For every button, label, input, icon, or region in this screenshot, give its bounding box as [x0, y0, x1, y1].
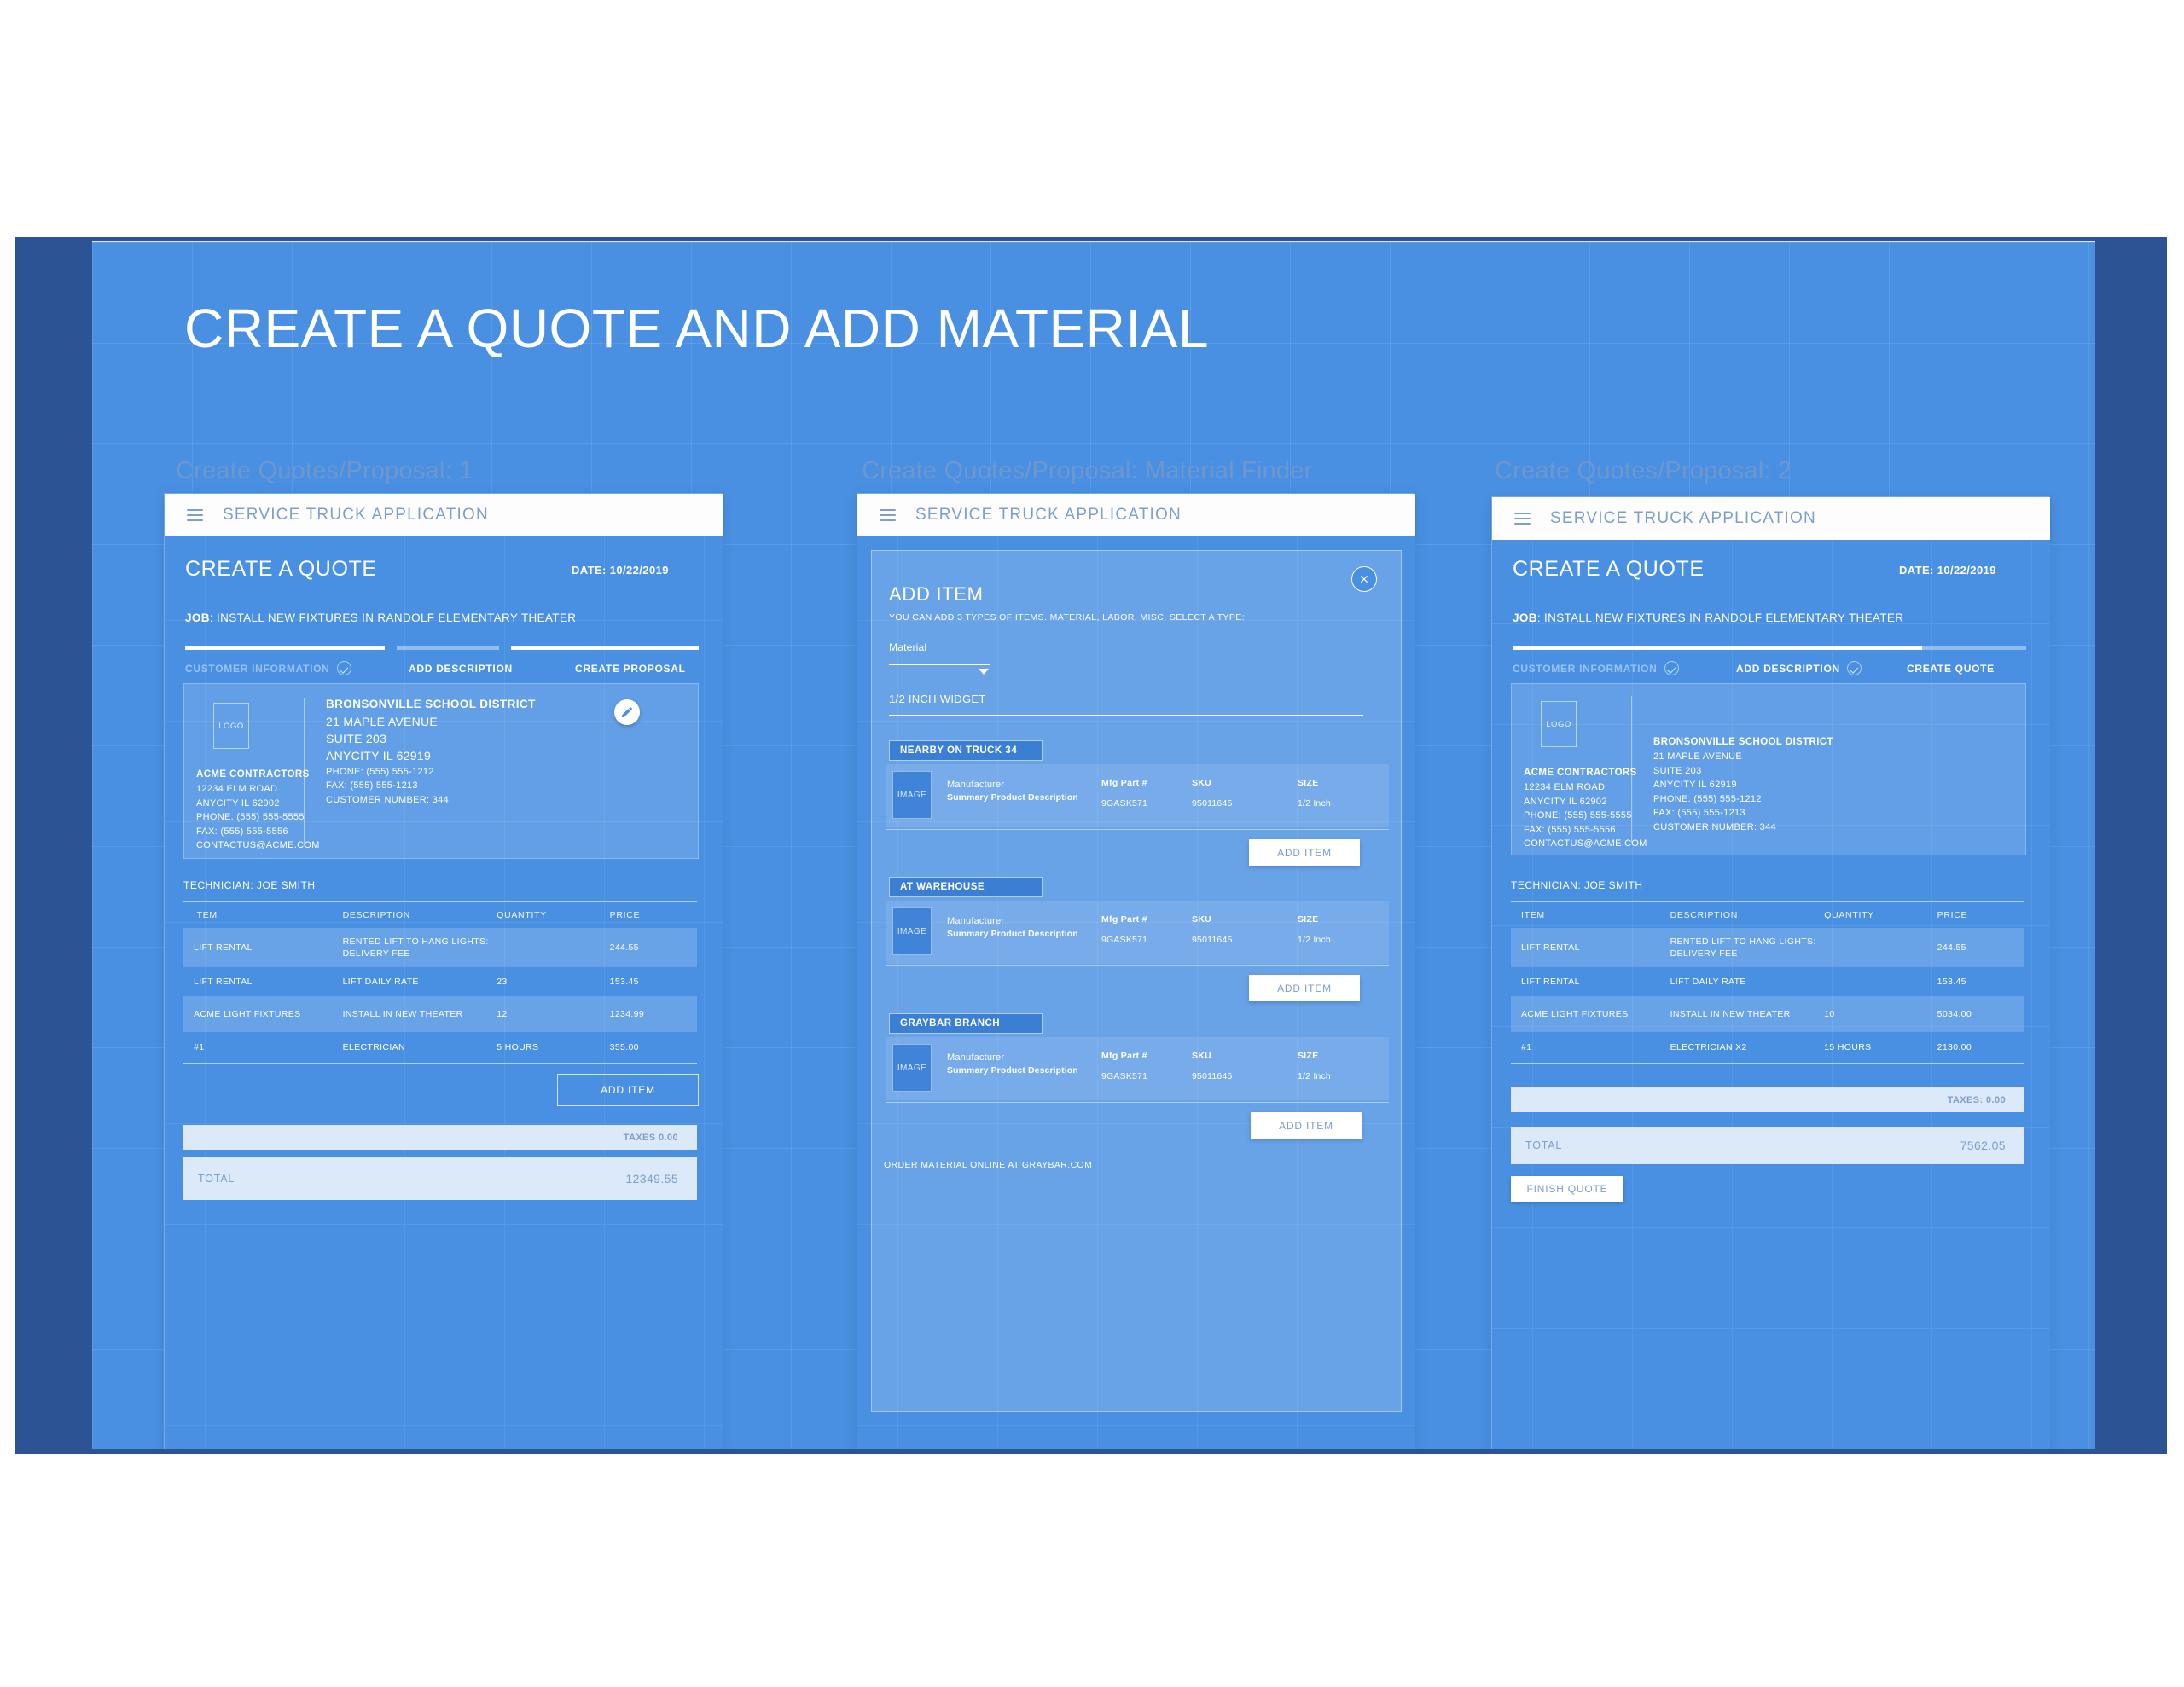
cell-desc: ELECTRICIAN — [343, 1041, 497, 1053]
result-location-tag: NEARBY ON TRUCK 34 — [889, 740, 1043, 761]
appbar-title: SERVICE TRUCK APPLICATION — [1550, 509, 1816, 528]
product-manufacturer: Manufacturer — [947, 1052, 1078, 1063]
stepper-progress-bar — [1513, 646, 2026, 650]
pencil-icon — [620, 705, 634, 719]
spec-header: SKU — [1192, 914, 1298, 925]
screen-card1: CREATE A QUOTE DATE: 10/22/2019 JOB: INS… — [165, 536, 723, 1449]
spec-size: SIZE 1/2 Inch — [1298, 914, 1374, 945]
spec-header: SKU — [1192, 1051, 1298, 1061]
spec-value: 9GASK571 — [1101, 935, 1192, 945]
modal-subtitle: YOU CAN ADD 3 TYPES OF ITEMS. MATERIAL, … — [889, 612, 1245, 623]
cell-item: LIFT RENTAL — [183, 976, 343, 988]
chevron-down-icon[interactable] — [979, 669, 989, 675]
cell-desc: LIFT DAILY RATE — [1670, 976, 1825, 988]
slide-canvas: CREATE A QUOTE AND ADD MATERIAL Create Q… — [92, 242, 2095, 1449]
cell-price: 244.55 — [1937, 942, 2024, 954]
check-icon — [1664, 661, 1679, 675]
product-result-row[interactable]: IMAGE Manufacturer Summary Product Descr… — [886, 764, 1389, 827]
taxes-bar: TAXES 0.00 — [183, 1125, 697, 1150]
contractor-line: PHONE: (555) 555-5555 — [196, 810, 320, 825]
table-row[interactable]: LIFT RENTAL RENTED LIFT TO HANG LIGHTS: … — [183, 928, 697, 967]
product-description: Manufacturer Summary Product Description — [947, 780, 1078, 803]
column-header-quantity: QUANTITY — [1824, 910, 1937, 920]
job-value: INSTALL NEW FIXTURES IN RANDOLF ELEMENTA… — [217, 612, 576, 624]
close-modal-button[interactable] — [1351, 566, 1377, 592]
add-item-button-result-2[interactable]: ADD ITEM — [1249, 975, 1360, 1001]
spec-size: SIZE 1/2 Inch — [1298, 1051, 1374, 1081]
add-item-modal: ADD ITEM YOU CAN ADD 3 TYPES OF ITEMS. M… — [871, 550, 1402, 1412]
cell-quantity: 10 — [1824, 1008, 1937, 1020]
stepper-labels-card3: CUSTOMER INFORMATION ADD DESCRIPTION CRE… — [1513, 661, 2026, 675]
spec-header: Mfg Part # — [1101, 778, 1192, 788]
hamburger-icon[interactable] — [880, 509, 896, 521]
spec-header: SIZE — [1298, 778, 1374, 788]
job-separator: : — [1537, 612, 1544, 624]
cell-price: 153.45 — [610, 976, 697, 988]
step-label: CREATE QUOTE — [1907, 663, 1995, 675]
contractor-address: ACME CONTRACTORS 12234 ELM ROAD ANYCITY … — [196, 769, 320, 853]
cell-desc: ELECTRICIAN X2 — [1670, 1041, 1825, 1053]
step-customer-information[interactable]: CUSTOMER INFORMATION — [185, 661, 409, 675]
total-label: TOTAL — [1511, 1139, 1562, 1151]
total-value: 12349.55 — [625, 1172, 697, 1186]
cell-quantity: 15 HOURS — [1824, 1041, 1937, 1053]
job-label: JOB — [1513, 612, 1537, 624]
total-value: 7562.05 — [1960, 1139, 2024, 1152]
column-header-quantity: QUANTITY — [497, 910, 609, 920]
cell-price: 153.45 — [1937, 976, 2024, 988]
column-caption-2: Create Quotes/Proposal: Material Finder — [862, 457, 1312, 485]
column-caption-3: Create Quotes/Proposal: 2 — [1495, 457, 1792, 485]
spec-header: SIZE — [1298, 914, 1374, 925]
quote-items-table-card3: ITEM DESCRIPTION QUANTITY PRICE LIFT REN… — [1511, 901, 2024, 1064]
contractor-name: ACME CONTRACTORS — [1524, 768, 1647, 778]
contractor-name: ACME CONTRACTORS — [196, 769, 320, 780]
contractor-line: ANYCITY IL 62902 — [1524, 795, 1647, 809]
product-spec-columns: Mfg Part # 9GASK571 SKU 95011645 SIZE 1/… — [1101, 778, 1374, 809]
cell-item: ACME LIGHT FIXTURES — [183, 1008, 343, 1020]
appbar-card2: SERVICE TRUCK APPLICATION — [857, 494, 1415, 536]
customer-name: BRONSONVILLE SCHOOL DISTRICT — [326, 698, 536, 710]
contractor-line: FAX: (555) 555-5556 — [1524, 823, 1647, 838]
contractor-line: 12234 ELM ROAD — [196, 782, 320, 797]
spec-header: Mfg Part # — [1101, 1051, 1192, 1061]
cell-price: 355.00 — [610, 1041, 697, 1053]
step-add-description[interactable]: ADD DESCRIPTION — [409, 663, 575, 675]
cell-item: #1 — [183, 1041, 343, 1053]
result-separator — [886, 829, 1389, 830]
total-bar: TOTAL 12349.55 — [183, 1157, 697, 1200]
job-label: JOB — [185, 612, 210, 624]
customer-line: ANYCITY IL 62919 — [326, 748, 536, 765]
spec-sku: SKU 95011645 — [1192, 778, 1298, 809]
customer-address: BRONSONVILLE SCHOOL DISTRICT 21 MAPLE AV… — [326, 698, 536, 807]
page-title: CREATE A QUOTE AND ADD MATERIAL — [184, 297, 1209, 360]
customer-name: BRONSONVILLE SCHOOL DISTRICT — [1653, 737, 1833, 747]
spec-mfg-part: Mfg Part # 9GASK571 — [1101, 778, 1192, 809]
customer-line: ANYCITY IL 62919 — [1653, 778, 1833, 792]
step-add-description[interactable]: ADD DESCRIPTION — [1736, 661, 1907, 675]
spec-sku: SKU 95011645 — [1192, 914, 1298, 945]
cell-item: LIFT RENTAL — [1511, 942, 1670, 954]
check-icon — [1847, 661, 1862, 675]
product-summary: Summary Product Description — [947, 792, 1078, 803]
total-label: TOTAL — [183, 1173, 235, 1185]
product-summary: Summary Product Description — [947, 929, 1078, 939]
item-type-select-underline — [889, 664, 990, 665]
close-x-icon — [1358, 573, 1370, 585]
cell-quantity: 5 HOURS — [497, 1041, 609, 1053]
customer-line: CUSTOMER NUMBER: 344 — [1653, 820, 1833, 835]
spec-value: 1/2 Inch — [1298, 935, 1374, 945]
material-search-input[interactable]: 1/2 INCH WIDGET — [889, 693, 990, 705]
spec-size: SIZE 1/2 Inch — [1298, 778, 1374, 809]
product-manufacturer: Manufacturer — [947, 780, 1078, 790]
customer-line: FAX: (555) 555-1213 — [326, 779, 536, 793]
device-card-material-finder: SERVICE TRUCK APPLICATION ADD ITEM YOU C… — [857, 493, 1414, 1449]
screen-card2: ADD ITEM YOU CAN ADD 3 TYPES OF ITEMS. M… — [857, 536, 1415, 1449]
cell-price: 244.55 — [610, 942, 697, 954]
cell-price: 5034.00 — [1937, 1008, 2024, 1020]
technician-line: TECHNICIAN: JOE SMITH — [183, 879, 316, 891]
cell-price: 2130.00 — [1937, 1041, 2024, 1053]
cell-desc: INSTALL IN NEW THEATER — [1670, 1008, 1825, 1020]
cell-desc: RENTED LIFT TO HANG LIGHTS: DELIVERY FEE — [343, 936, 497, 959]
modal-title: ADD ITEM — [889, 583, 984, 606]
stepper-labels-card1: CUSTOMER INFORMATION ADD DESCRIPTION CRE… — [185, 661, 699, 675]
customer-line: FAX: (555) 555-1213 — [1653, 806, 1833, 820]
contractor-line: ANYCITY IL 62902 — [196, 797, 320, 811]
order-online-note: ORDER MATERIAL ONLINE AT GRAYBAR.COM — [884, 1160, 1092, 1170]
cell-desc: RENTED LIFT TO HANG LIGHTS: DELIVERY FEE — [1670, 936, 1825, 959]
step-create-quote[interactable]: CREATE QUOTE — [1907, 663, 1995, 675]
result-separator — [886, 965, 1389, 966]
product-spec-columns: Mfg Part # 9GASK571 SKU 95011645 SIZE 1/… — [1101, 1051, 1374, 1081]
step-label: CUSTOMER INFORMATION — [185, 663, 330, 675]
cell-item: LIFT RENTAL — [183, 942, 343, 954]
spec-value: 95011645 — [1192, 1071, 1298, 1081]
contractor-line: CONTACTUS@ACME.COM — [196, 838, 320, 853]
taxes-value: TAXES 0.00 — [624, 1133, 697, 1143]
spec-header: Mfg Part # — [1101, 914, 1192, 925]
column-header-price: PRICE — [1937, 910, 2024, 920]
screen-card3: CREATE A QUOTE DATE: 10/22/2019 JOB: INS… — [1492, 540, 2050, 1449]
total-bar: TOTAL 7562.05 — [1511, 1127, 2024, 1164]
customer-line: 21 MAPLE AVENUE — [1653, 750, 1833, 764]
spec-value: 95011645 — [1192, 798, 1298, 809]
spec-value: 1/2 Inch — [1298, 798, 1374, 809]
check-icon — [337, 661, 351, 675]
product-description: Manufacturer Summary Product Description — [947, 916, 1078, 939]
spec-mfg-part: Mfg Part # 9GASK571 — [1101, 1051, 1192, 1081]
material-search-value: 1/2 INCH WIDGET — [889, 693, 986, 705]
finish-quote-button[interactable]: FINISH QUOTE — [1511, 1176, 1623, 1202]
step-label: ADD DESCRIPTION — [409, 663, 513, 675]
spec-sku: SKU 95011645 — [1192, 1051, 1298, 1081]
taxes-bar: TAXES: 0.00 — [1511, 1087, 2024, 1112]
table-row[interactable]: #1 ELECTRICIAN X2 15 HOURS 2130.00 — [1511, 1032, 2024, 1063]
logo-placeholder: LOGO — [1541, 701, 1577, 747]
contractor-address: ACME CONTRACTORS 12234 ELM ROAD ANYCITY … — [1524, 768, 1647, 851]
customer-line: CUSTOMER NUMBER: 344 — [326, 793, 536, 808]
column-header-item: ITEM — [1511, 910, 1670, 920]
spec-value: 1/2 Inch — [1298, 1071, 1374, 1081]
hamburger-icon[interactable] — [1514, 513, 1531, 525]
customer-line: 21 MAPLE AVENUE — [326, 714, 536, 731]
edit-customer-button[interactable] — [614, 699, 640, 725]
product-image-placeholder: IMAGE — [892, 1044, 932, 1092]
column-header-price: PRICE — [610, 910, 697, 920]
quote-date: DATE: 10/22/2019 — [1899, 564, 1996, 577]
logo-placeholder: LOGO — [213, 703, 249, 749]
device-card-quote-2: SERVICE TRUCK APPLICATION CREATE A QUOTE… — [1491, 496, 2049, 1449]
cell-quantity: 12 — [497, 1008, 609, 1020]
taxes-value: TAXES: 0.00 — [1948, 1095, 2024, 1105]
spec-header: SIZE — [1298, 1051, 1374, 1061]
customer-line: SUITE 203 — [326, 731, 536, 748]
column-header-item: ITEM — [183, 910, 343, 920]
material-search-underline — [889, 715, 1363, 716]
result-separator — [886, 1102, 1389, 1103]
product-summary: Summary Product Description — [947, 1065, 1078, 1075]
table-rule — [183, 1063, 697, 1064]
cell-price: 1234.99 — [610, 1008, 697, 1020]
hamburger-icon[interactable] — [187, 509, 203, 521]
appbar-card1: SERVICE TRUCK APPLICATION — [165, 494, 723, 536]
screen-title: CREATE A QUOTE — [1513, 557, 1705, 582]
table-row[interactable]: LIFT RENTAL RENTED LIFT TO HANG LIGHTS: … — [1511, 928, 2024, 967]
cell-item: #1 — [1511, 1041, 1670, 1053]
product-image-placeholder: IMAGE — [892, 907, 932, 955]
result-location-tag: GRAYBAR BRANCH — [889, 1013, 1043, 1034]
job-line: JOB: INSTALL NEW FIXTURES IN RANDOLF ELE… — [1513, 612, 1903, 624]
customer-info-panel: LOGO ACME CONTRACTORS 12234 ELM ROAD ANY… — [183, 683, 699, 859]
table-row[interactable]: LIFT RENTAL LIFT DAILY RATE 153.45 — [1511, 967, 2024, 996]
spec-header: SKU — [1192, 778, 1298, 788]
job-separator: : — [210, 612, 217, 624]
step-customer-information[interactable]: CUSTOMER INFORMATION — [1513, 661, 1736, 675]
job-line: JOB: INSTALL NEW FIXTURES IN RANDOLF ELE… — [185, 612, 576, 624]
add-item-button-result-3[interactable]: ADD ITEM — [1251, 1112, 1362, 1139]
add-item-button[interactable]: ADD ITEM — [557, 1074, 699, 1106]
technician-line: TECHNICIAN: JOE SMITH — [1511, 879, 1643, 891]
product-spec-columns: Mfg Part # 9GASK571 SKU 95011645 SIZE 1/… — [1101, 914, 1374, 945]
cell-item: ACME LIGHT FIXTURES — [1511, 1008, 1670, 1020]
column-header-desc: DESCRIPTION — [343, 910, 497, 920]
step-label: CREATE PROPOSAL — [575, 663, 686, 675]
table-header-row: ITEM DESCRIPTION QUANTITY PRICE — [1511, 902, 2024, 928]
product-result-row[interactable]: IMAGE Manufacturer Summary Product Descr… — [886, 901, 1389, 964]
customer-line: PHONE: (555) 555-1212 — [1653, 792, 1833, 807]
customer-info-panel: LOGO ACME CONTRACTORS 12234 ELM ROAD ANY… — [1511, 683, 2026, 855]
item-type-select-label[interactable]: Material — [889, 641, 926, 653]
device-card-quote-1: SERVICE TRUCK APPLICATION CREATE A QUOTE… — [164, 493, 722, 1449]
product-result-row[interactable]: IMAGE Manufacturer Summary Product Descr… — [886, 1037, 1389, 1100]
stepper-progress-bar — [185, 646, 699, 650]
table-row[interactable]: ACME LIGHT FIXTURES INSTALL IN NEW THEAT… — [1511, 996, 2024, 1032]
product-description: Manufacturer Summary Product Description — [947, 1052, 1078, 1075]
contractor-line: PHONE: (555) 555-5555 — [1524, 809, 1647, 823]
quote-date: DATE: 10/22/2019 — [572, 564, 669, 577]
table-row[interactable]: #1 ELECTRICIAN 5 HOURS 355.00 — [183, 1032, 697, 1063]
spec-value: 95011645 — [1192, 935, 1298, 945]
contractor-line: 12234 ELM ROAD — [1524, 780, 1647, 795]
customer-line: SUITE 203 — [1653, 764, 1833, 779]
table-rule — [1511, 1063, 2024, 1064]
customer-address: BRONSONVILLE SCHOOL DISTRICT 21 MAPLE AV… — [1653, 737, 1833, 834]
appbar-title: SERVICE TRUCK APPLICATION — [223, 506, 489, 525]
quote-items-table-card1: ITEM DESCRIPTION QUANTITY PRICE LIFT REN… — [183, 901, 697, 1064]
appbar-card3: SERVICE TRUCK APPLICATION — [1492, 497, 2050, 540]
table-row[interactable]: ACME LIGHT FIXTURES INSTALL IN NEW THEAT… — [183, 996, 697, 1032]
spec-mfg-part: Mfg Part # 9GASK571 — [1101, 914, 1192, 945]
customer-line: PHONE: (555) 555-1212 — [326, 765, 536, 780]
cell-quantity: 23 — [497, 976, 609, 988]
cell-desc: LIFT DAILY RATE — [343, 976, 497, 988]
job-value: INSTALL NEW FIXTURES IN RANDOLF ELEMENTA… — [1544, 612, 1903, 624]
product-image-placeholder: IMAGE — [892, 771, 932, 819]
text-caret — [990, 693, 990, 704]
spec-value: 9GASK571 — [1101, 1071, 1192, 1081]
cell-desc: INSTALL IN NEW THEATER — [343, 1008, 497, 1020]
result-location-tag: AT WAREHOUSE — [889, 877, 1043, 897]
cell-item: LIFT RENTAL — [1511, 976, 1670, 988]
product-manufacturer: Manufacturer — [947, 916, 1078, 926]
table-header-row: ITEM DESCRIPTION QUANTITY PRICE — [183, 902, 697, 928]
table-row[interactable]: LIFT RENTAL LIFT DAILY RATE 23 153.45 — [183, 967, 697, 996]
step-create-proposal[interactable]: CREATE PROPOSAL — [575, 663, 686, 675]
spec-value: 9GASK571 — [1101, 798, 1192, 809]
step-label: CUSTOMER INFORMATION — [1513, 663, 1658, 675]
contractor-line: FAX: (555) 555-5556 — [196, 825, 320, 839]
column-header-desc: DESCRIPTION — [1670, 910, 1825, 920]
contractor-line: CONTACTUS@ACME.COM — [1524, 837, 1647, 851]
step-label: ADD DESCRIPTION — [1736, 663, 1840, 675]
appbar-title: SERVICE TRUCK APPLICATION — [915, 506, 1182, 525]
add-item-button-result-1[interactable]: ADD ITEM — [1249, 839, 1360, 866]
column-caption-1: Create Quotes/Proposal: 1 — [176, 457, 473, 485]
screen-title: CREATE A QUOTE — [185, 557, 377, 582]
